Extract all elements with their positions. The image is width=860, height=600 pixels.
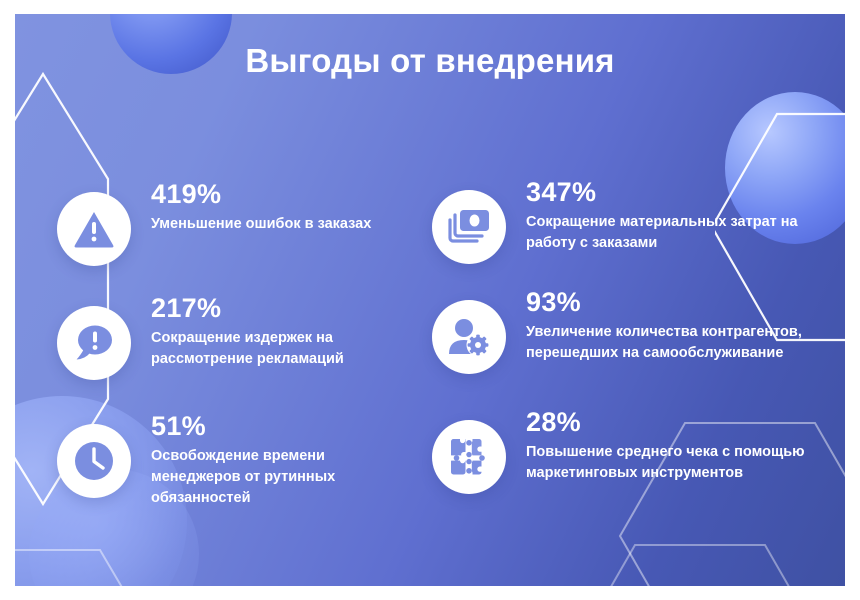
- stat-text-block: 419% Уменьшение ошибок в заказах: [151, 178, 371, 235]
- stat-description: Сокращение материальных затрат на работу…: [526, 212, 827, 253]
- stat-text-block: 28% Повышение среднего чека с помощью ма…: [526, 406, 827, 484]
- stat-item: 28% Повышение среднего чека с помощью ма…: [432, 406, 827, 494]
- stat-description: Уменьшение ошибок в заказах: [151, 214, 371, 235]
- stat-text-block: 51% Освобождение времени менеджеров от р…: [151, 410, 417, 508]
- stat-percent: 28%: [526, 408, 827, 436]
- stat-item: 347% Сокращение материальных затрат на р…: [432, 176, 827, 264]
- decorative-hexagon-bottom-left: [15, 544, 145, 586]
- slide-canvas: Выгоды от внедрения 419% Уменьшение ошиб…: [15, 14, 845, 586]
- stat-icon-badge: [432, 190, 506, 264]
- stat-percent: 347%: [526, 178, 827, 206]
- stat-item: 93% Увеличение количества контрагентов, …: [432, 286, 827, 374]
- stat-icon-badge: [57, 424, 131, 498]
- stat-text-block: 217% Сокращение издержек на рассмотрение…: [151, 292, 417, 370]
- stat-percent: 93%: [526, 288, 827, 316]
- banknotes-icon: [447, 207, 491, 247]
- stat-item: 217% Сокращение издержек на рассмотрение…: [57, 292, 417, 380]
- stat-text-block: 93% Увеличение количества контрагентов, …: [526, 286, 827, 364]
- puzzle-pieces-icon: [448, 436, 490, 478]
- stat-percent: 217%: [151, 294, 417, 322]
- user-gear-icon: [447, 316, 491, 358]
- stat-percent: 51%: [151, 412, 417, 440]
- stat-icon-badge: [432, 420, 506, 494]
- warning-triangle-icon: [73, 208, 115, 250]
- stat-description: Увеличение количества контрагентов, пере…: [526, 322, 827, 363]
- stat-item: 51% Освобождение времени менеджеров от р…: [57, 410, 417, 508]
- stat-description: Повышение среднего чека с помощью маркет…: [526, 442, 827, 483]
- stat-icon-badge: [57, 192, 131, 266]
- speech-bubble-alert-icon: [72, 322, 116, 364]
- stat-percent: 419%: [151, 180, 371, 208]
- decorative-hexagon-bottom-center: [560, 539, 845, 586]
- stat-icon-badge: [57, 306, 131, 380]
- stat-description: Сокращение издержек на рассмотрение рекл…: [151, 328, 417, 369]
- stat-item: 419% Уменьшение ошибок в заказах: [57, 178, 417, 266]
- stat-text-block: 347% Сокращение материальных затрат на р…: [526, 176, 827, 254]
- page-title: Выгоды от внедрения: [15, 42, 845, 80]
- stat-description: Освобождение времени менеджеров от рутин…: [151, 446, 417, 508]
- clock-icon: [72, 439, 116, 483]
- stat-icon-badge: [432, 300, 506, 374]
